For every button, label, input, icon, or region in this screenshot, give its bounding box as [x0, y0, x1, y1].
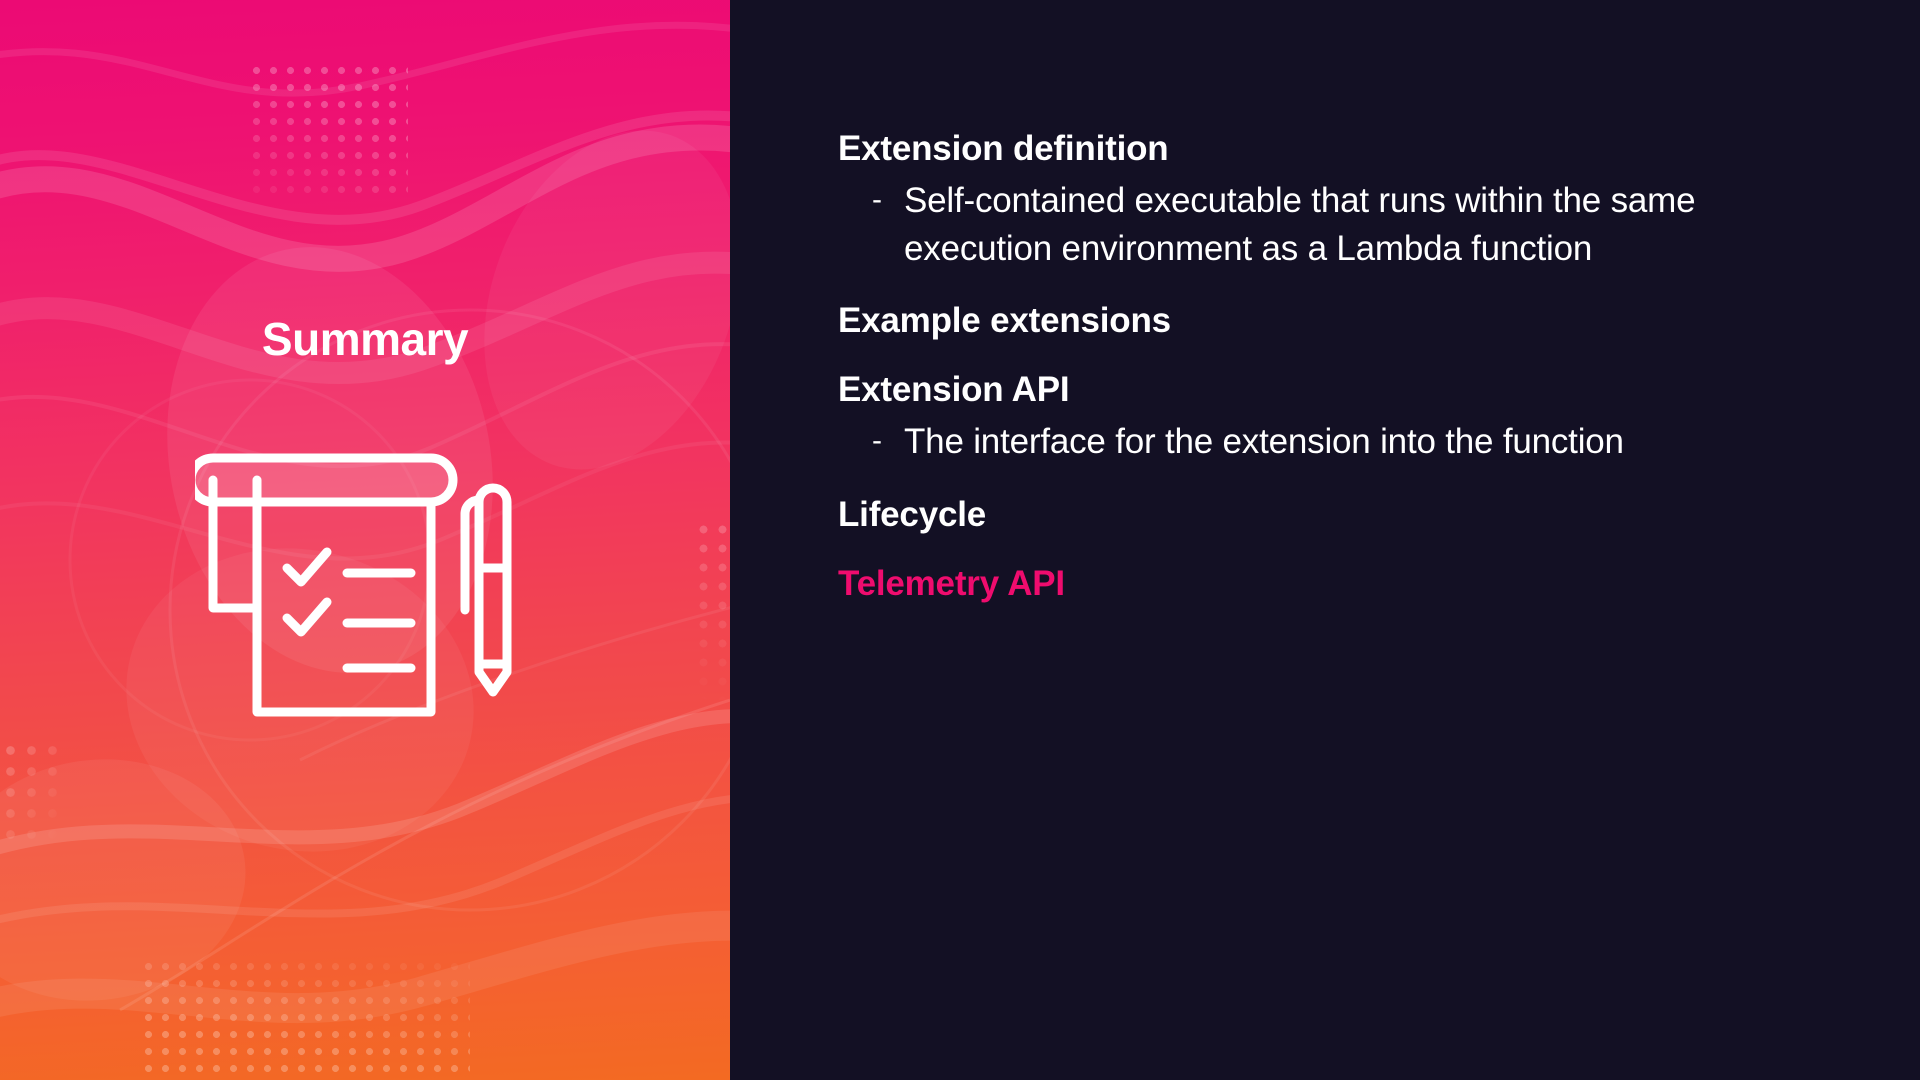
slide-root: Summary	[0, 0, 1920, 1080]
list-item-heading: Example extensions	[838, 300, 1798, 341]
summary-list: Extension definition - Self-contained ex…	[838, 128, 1798, 608]
pen-icon	[465, 488, 507, 692]
bullet-dash-icon: -	[872, 177, 904, 224]
list-item-heading-highlighted: Telemetry API	[838, 563, 1798, 604]
notepad-checklist-and-pen-icon	[195, 440, 535, 730]
bullet-text: The interface for the extension into the…	[904, 418, 1624, 465]
list-item: Telemetry API	[838, 563, 1798, 604]
list-item: Example extensions	[838, 300, 1798, 341]
page-title: Summary	[0, 312, 730, 366]
list-item: Extension API - The interface for the ex…	[838, 369, 1798, 466]
content-panel: Extension definition - Self-contained ex…	[730, 0, 1920, 1080]
left-gradient-panel: Summary	[0, 0, 730, 1080]
list-item-heading: Extension definition	[838, 128, 1798, 169]
list-item-heading: Lifecycle	[838, 494, 1798, 535]
list-item-heading: Extension API	[838, 369, 1798, 410]
list-item: Lifecycle	[838, 494, 1798, 535]
list-item-bullet: - Self-contained executable that runs wi…	[838, 177, 1798, 272]
bullet-text: Self-contained executable that runs with…	[904, 177, 1774, 272]
list-item: Extension definition - Self-contained ex…	[838, 128, 1798, 272]
list-item-bullet: - The interface for the extension into t…	[838, 418, 1798, 465]
bullet-dash-icon: -	[872, 418, 904, 465]
